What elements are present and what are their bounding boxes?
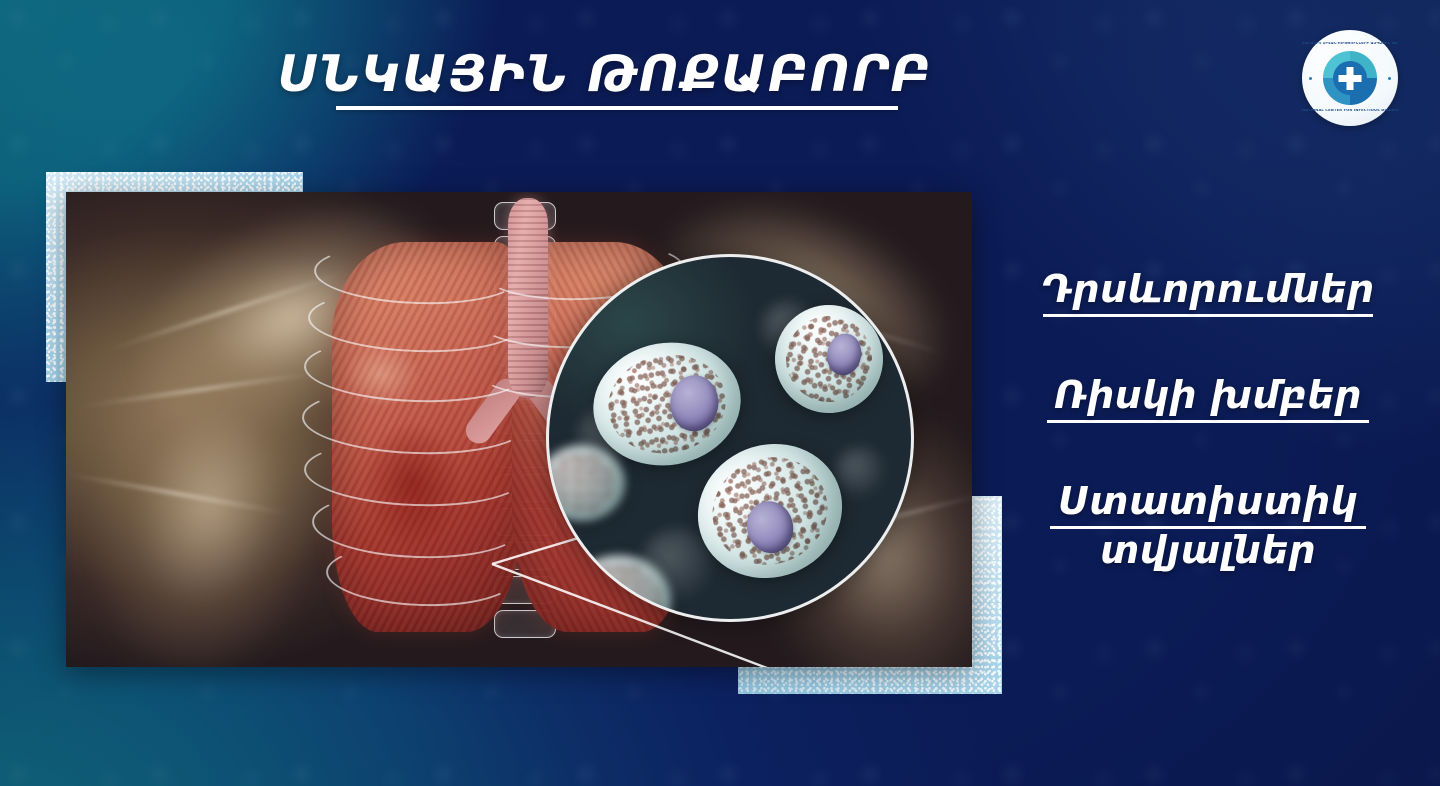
logo-text-armenian: ՎԱՐԱԿԻՉ ՀԻՎԱՆԴՈՒԹՅՈՒՆՆԵՐԻ ԱԶԳԱՅԻՆ ԿԵՆՏՐՈ… <box>1302 42 1398 46</box>
menu-item-label-line2: տվյալներ <box>1008 529 1408 572</box>
page-title: ՍՆԿԱՅԻՆ ԹՈՔԱԲՈՐԲ <box>272 48 939 113</box>
menu-item-underline <box>1047 420 1369 423</box>
navigation-menu[interactable]: Դրսևորումներ Ռիսկի խմբեր Ստատիստիկ տվյալ… <box>1008 268 1408 577</box>
menu-item-underline <box>1043 314 1373 317</box>
menu-item-statistics[interactable]: Ստատիստիկ տվյալներ <box>1008 480 1408 577</box>
title-block: ՍՆԿԱՅԻՆ ԹՈՔԱԲՈՐԲ <box>0 48 1210 117</box>
menu-item-manifestations[interactable]: Դրսևորումներ <box>1008 268 1408 322</box>
logo-text-english: NATIONAL CENTER FOR INFECTIOUS DISEASES <box>1302 109 1398 113</box>
organization-logo[interactable]: ՎԱՐԱԿԻՉ ՀԻՎԱՆԴՈՒԹՅՈՒՆՆԵՐԻ ԱԶԳԱՅԻՆ ԿԵՆՏՐՈ… <box>1302 30 1398 126</box>
menu-item-label: Ստատիստիկ <box>1058 480 1358 523</box>
fungal-cell <box>546 445 625 521</box>
menu-item-label: Ռիսկի խմբեր <box>1054 374 1362 417</box>
menu-item-label: Դրսևորումներ <box>1041 268 1374 311</box>
menu-item-risk-groups[interactable]: Ռիսկի խմբեր <box>1008 374 1408 428</box>
magnified-view-circle <box>546 254 914 622</box>
hero-image <box>66 192 972 667</box>
medical-cross-pinwheel-icon <box>1319 47 1381 109</box>
logo-dot-right <box>1388 77 1391 80</box>
logo-dot-left <box>1309 77 1312 80</box>
title-underline <box>336 106 898 110</box>
slide-canvas: ՍՆԿԱՅԻՆ ԹՈՔԱԲՈՐԲ ՎԱՐԱԿԻՉ ՀԻՎԱՆԴՈՒԹՅՈՒՆՆԵ… <box>0 0 1440 786</box>
